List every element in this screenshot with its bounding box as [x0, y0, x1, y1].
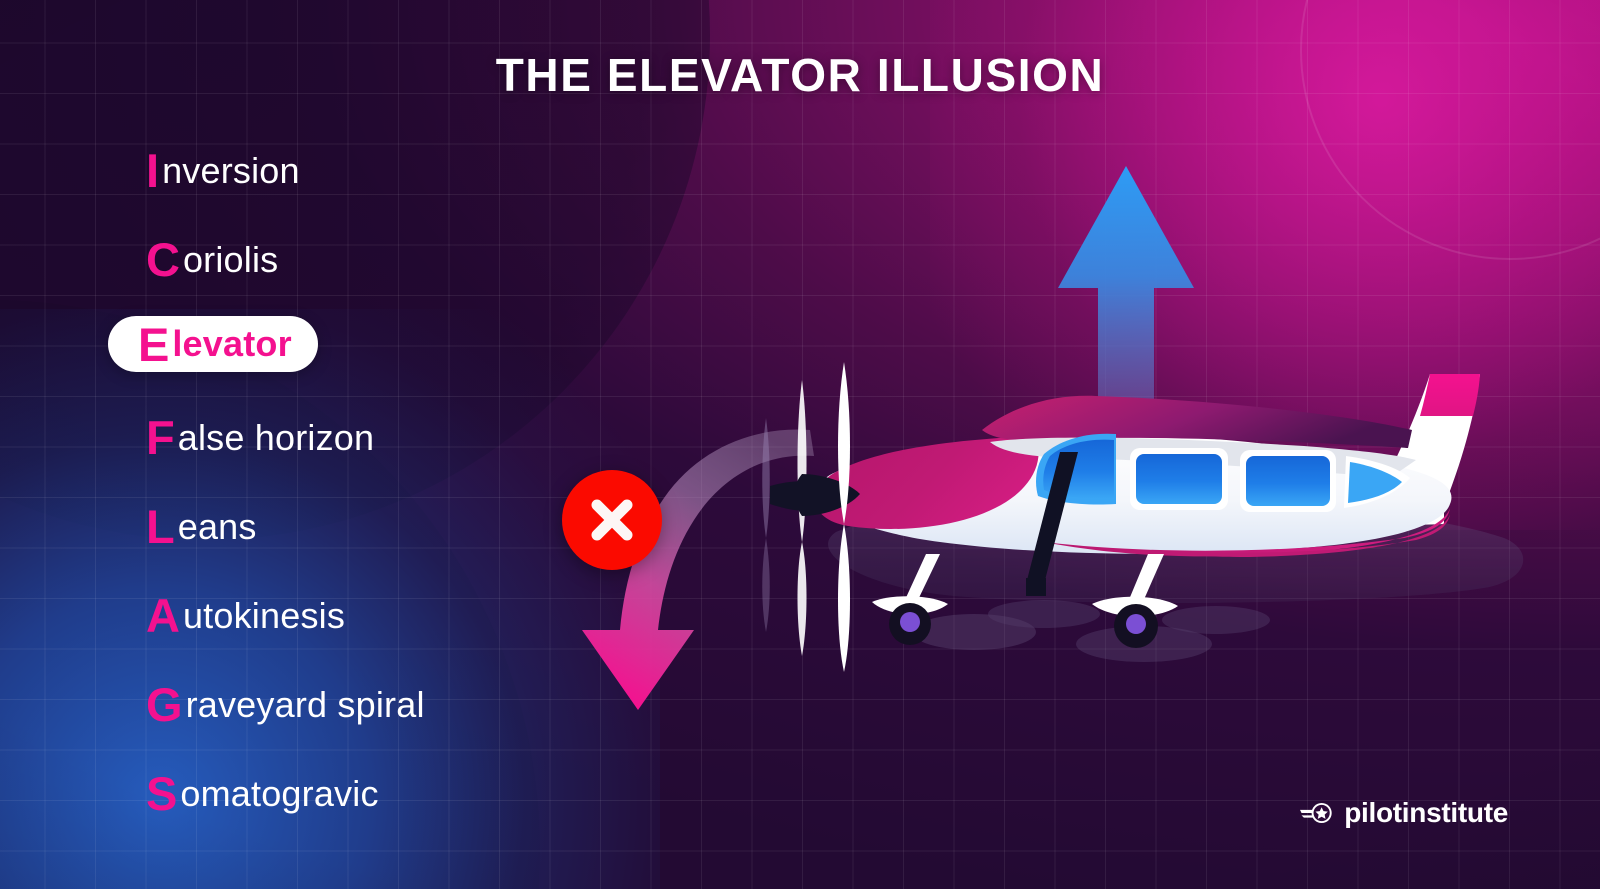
list-item-label: omatogravic	[180, 776, 378, 812]
list-item-letter: G	[146, 681, 183, 728]
list-item-label: raveyard spiral	[186, 687, 425, 723]
list-item-label: oriolis	[183, 242, 278, 278]
list-item-label: levator	[172, 326, 291, 362]
list-item-label: nversion	[162, 153, 300, 189]
brand-logo[interactable]: pilotinstitute	[1300, 799, 1508, 827]
infographic-canvas: THE ELEVATOR ILLUSION I nversion C oriol…	[0, 0, 1600, 889]
list-item-autokinesis[interactable]: A utokinesis	[108, 571, 588, 660]
list-item-elevator[interactable]: E levator	[108, 304, 588, 393]
list-item-letter: C	[146, 236, 180, 283]
list-item-somatogravic[interactable]: S omatogravic	[108, 749, 588, 838]
brand-wordmark: pilotinstitute	[1344, 799, 1508, 827]
list-item-false-horizon[interactable]: F alse horizon	[108, 393, 588, 482]
small-airplane-icon	[744, 356, 1564, 676]
iceflags-list: I nversion C oriolis E levator F alse ho…	[108, 126, 588, 838]
list-item-label: alse horizon	[178, 420, 375, 456]
list-item-label: eans	[178, 509, 257, 545]
list-item-letter: F	[146, 414, 175, 461]
list-item-letter: S	[146, 770, 177, 817]
x-mark-icon	[562, 470, 662, 570]
list-item-letter: A	[146, 592, 180, 639]
winged-star-icon	[1300, 799, 1334, 827]
list-item-letter: L	[146, 503, 175, 550]
list-item-inversion[interactable]: I nversion	[108, 126, 588, 215]
active-highlight-pill: E levator	[108, 316, 318, 372]
page-title: THE ELEVATOR ILLUSION	[0, 48, 1600, 102]
list-item-coriolis[interactable]: C oriolis	[108, 215, 588, 304]
list-item-leans[interactable]: L eans	[108, 482, 588, 571]
list-item-letter: E	[138, 321, 169, 368]
list-item-letter: I	[146, 147, 159, 194]
background-arc	[1300, 0, 1600, 260]
list-item-graveyard-spiral[interactable]: G raveyard spiral	[108, 660, 588, 749]
list-item-label: utokinesis	[183, 598, 345, 634]
